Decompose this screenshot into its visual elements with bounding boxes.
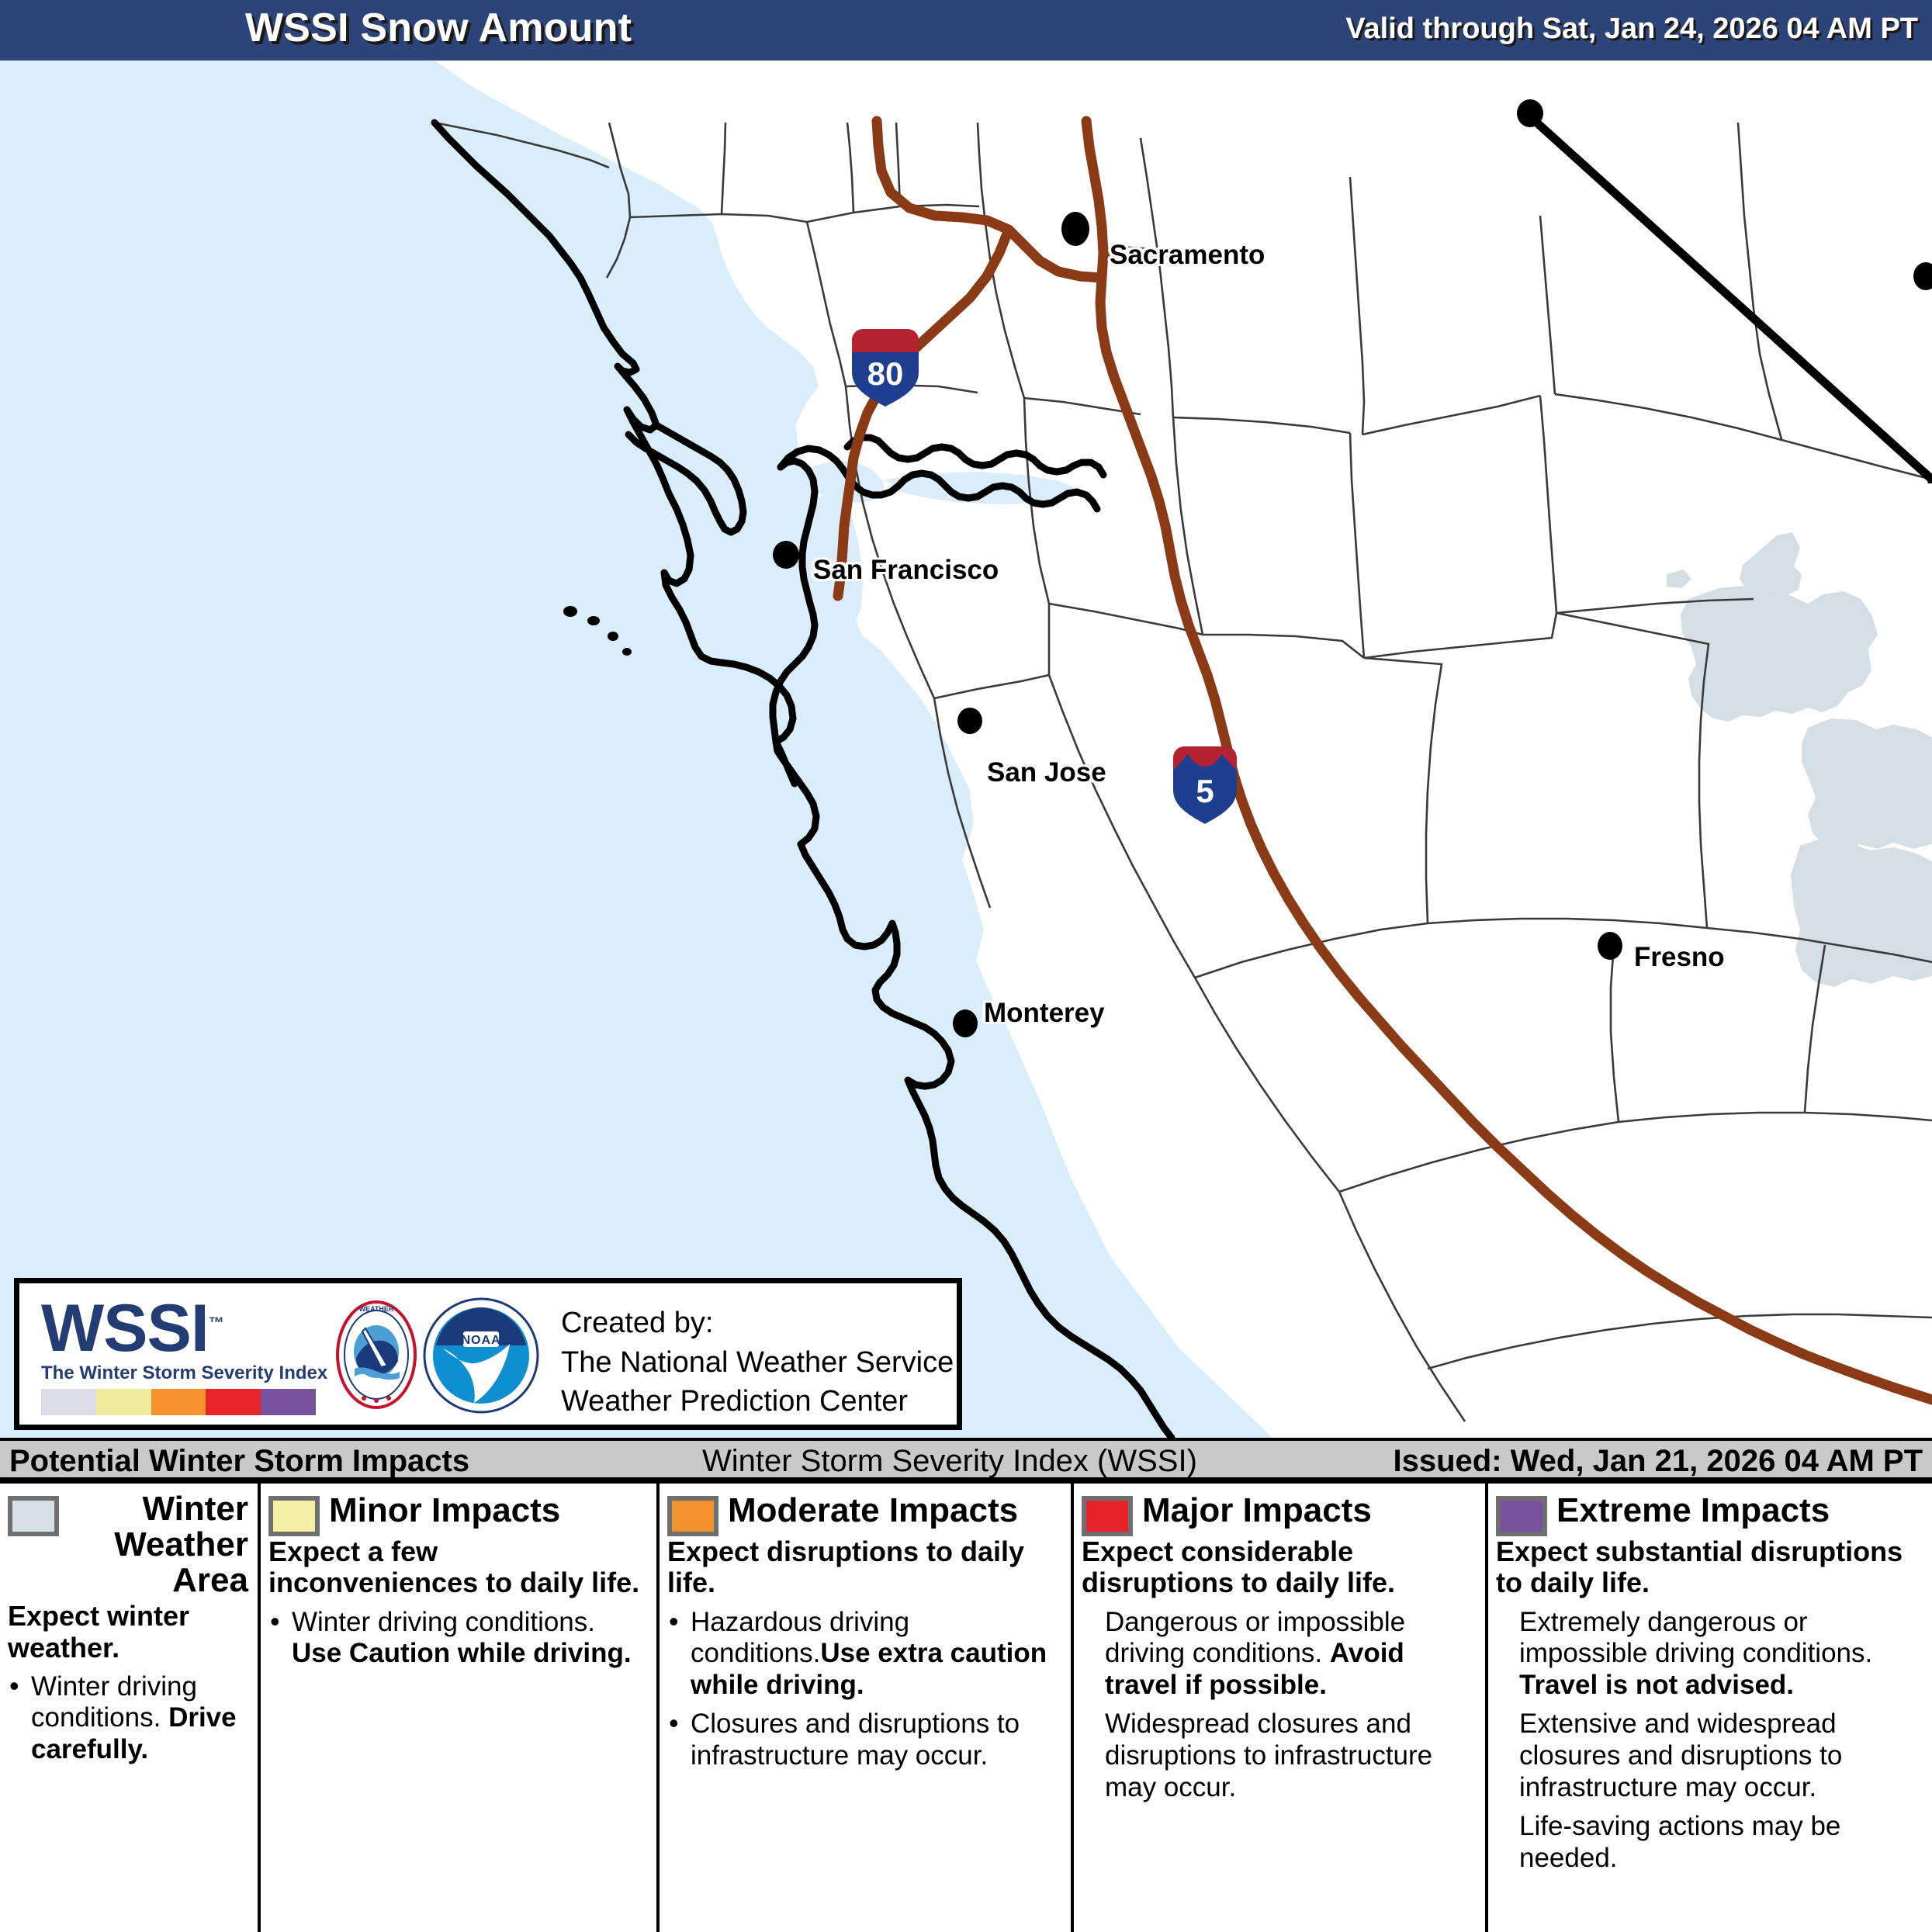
created-by-line-3: Weather Prediction Center <box>561 1382 954 1421</box>
city-dot-fresno <box>1598 932 1622 960</box>
legend-bullets-moderate-impacts: Hazardous driving conditions.Use extra c… <box>667 1607 1061 1772</box>
legend-bullets-minor-impacts: Winter driving conditions. Use Caution w… <box>268 1607 647 1670</box>
legend-header: Moderate Impacts <box>667 1491 1061 1529</box>
svg-text:NOAA: NOAA <box>461 1334 500 1347</box>
wssi-wordmark: WSSI™ <box>41 1296 328 1361</box>
legend-column-minor-impacts[interactable]: Minor Impacts Expect a few inconvenience… <box>261 1484 660 1932</box>
list-item: Hazardous driving conditions.Use extra c… <box>667 1607 1061 1702</box>
list-item: Dangerous or impossible driving conditio… <box>1082 1607 1476 1702</box>
city-label-monterey: Monterey <box>984 998 1105 1029</box>
strip-swatch-extreme <box>261 1389 316 1415</box>
legend-lead-winter-weather-area: Expect winter weather. <box>8 1601 248 1664</box>
swatch-minor-impacts <box>268 1496 320 1536</box>
list-item: Extensive and widespread closures and di… <box>1496 1709 1923 1803</box>
map-canvas[interactable]: 80 5 Sacramento San Francisco San Jose F… <box>0 61 1932 1438</box>
legend-title-extreme-impacts: Extreme Impacts <box>1496 1491 1923 1529</box>
legend-header: WinterWeatherArea <box>8 1491 248 1598</box>
wssi-snow-amount-map-page: WSSI Snow Amount Valid through Sat, Jan … <box>0 0 1932 1932</box>
swatch-moderate-impacts <box>667 1496 718 1536</box>
legend-lead-minor-impacts: Expect a few inconveniences to daily lif… <box>268 1536 647 1599</box>
strip-swatch-minor <box>96 1389 151 1415</box>
list-item: Life-saving actions may be needed. <box>1496 1811 1923 1874</box>
legend-title-major-impacts: Major Impacts <box>1082 1491 1476 1529</box>
impacts-header-bar: Potential Winter Storm Impacts Winter St… <box>0 1438 1932 1481</box>
legend-title-minor-impacts: Minor Impacts <box>268 1491 647 1529</box>
city-dot-san-jose <box>957 708 982 734</box>
wssi-color-strip <box>41 1389 316 1415</box>
page-title: WSSI Snow Amount <box>245 5 632 51</box>
legend-lead-moderate-impacts: Expect disruptions to daily life. <box>667 1536 1061 1599</box>
legend-column-major-impacts[interactable]: Major Impacts Expect considerable disrup… <box>1074 1484 1488 1932</box>
city-dot-san-francisco <box>773 541 799 569</box>
strip-swatch-moderate <box>151 1389 206 1415</box>
legend-bullets-extreme-impacts: Extremely dangerous or impossible drivin… <box>1496 1607 1923 1875</box>
city-label-san-jose: San Jose <box>987 757 1106 788</box>
potential-impacts-label: Potential Winter Storm Impacts <box>9 1444 469 1479</box>
city-label-sacramento: Sacramento <box>1110 240 1265 271</box>
list-item: Widespread closures and disruptions to i… <box>1082 1709 1476 1803</box>
impacts-legend: WinterWeatherArea Expect winter weather.… <box>0 1481 1932 1932</box>
legend-column-extreme-impacts[interactable]: Extreme Impacts Expect substantial disru… <box>1488 1484 1932 1932</box>
national-weather-service-seal: WEATHER <box>336 1300 417 1409</box>
legend-column-winter-weather-area[interactable]: WinterWeatherArea Expect winter weather.… <box>0 1484 261 1932</box>
wssi-subtitle: The Winter Storm Severity Index <box>41 1362 328 1384</box>
created-by-line-1: Created by: <box>561 1304 954 1343</box>
strip-swatch-winter <box>41 1389 96 1415</box>
valid-through-label: Valid through Sat, Jan 24, 2026 04 AM PT <box>1345 12 1918 46</box>
city-dot-sacramento <box>1061 212 1089 246</box>
swatch-winter-weather-area <box>8 1496 59 1536</box>
trademark-symbol: ™ <box>209 1314 223 1331</box>
wssi-index-label: Winter Storm Severity Index (WSSI) <box>702 1444 1197 1479</box>
created-by-block: Created by: The National Weather Service… <box>561 1304 954 1421</box>
svg-text:80: 80 <box>867 355 904 392</box>
swatch-extreme-impacts <box>1496 1496 1547 1536</box>
city-label-san-francisco: San Francisco <box>813 555 999 586</box>
legend-title-moderate-impacts: Moderate Impacts <box>667 1491 1061 1529</box>
list-item: Winter driving conditions. Drive careful… <box>8 1671 248 1766</box>
svg-text:5: 5 <box>1196 773 1214 809</box>
legend-bullets-major-impacts: Dangerous or impossible driving conditio… <box>1082 1607 1476 1804</box>
legend-bullets-winter-weather-area: Winter driving conditions. Drive careful… <box>8 1671 248 1766</box>
city-dot-north-edge <box>1517 99 1543 127</box>
list-item: Closures and disruptions to infrastructu… <box>667 1709 1061 1771</box>
wssi-logo: WSSI™ The Winter Storm Severity Index <box>41 1296 328 1415</box>
strip-swatch-major <box>206 1389 261 1415</box>
noaa-seal: NOAA <box>423 1297 539 1414</box>
legend-header: Extreme Impacts <box>1496 1491 1923 1529</box>
wssi-logo-box: WSSI™ The Winter Storm Severity Index WE… <box>14 1278 962 1430</box>
svg-text:WEATHER: WEATHER <box>359 1305 394 1313</box>
created-by-line-2: The National Weather Service <box>561 1343 954 1383</box>
legend-lead-major-impacts: Expect considerable disruptions to daily… <box>1082 1536 1476 1599</box>
legend-column-moderate-impacts[interactable]: Moderate Impacts Expect disruptions to d… <box>660 1484 1074 1932</box>
city-dot-monterey <box>953 1009 978 1037</box>
city-label-fresno: Fresno <box>1634 942 1725 973</box>
swatch-major-impacts <box>1082 1496 1133 1536</box>
legend-lead-extreme-impacts: Expect substantial disruptions to daily … <box>1496 1536 1923 1599</box>
title-bar: WSSI Snow Amount Valid through Sat, Jan … <box>0 0 1932 61</box>
legend-header: Major Impacts <box>1082 1491 1476 1529</box>
legend-header: Minor Impacts <box>268 1491 647 1529</box>
issued-label: Issued: Wed, Jan 21, 2026 04 AM PT <box>1394 1444 1923 1479</box>
list-item: Winter driving conditions. Use Caution w… <box>268 1607 647 1670</box>
list-item: Extremely dangerous or impossible drivin… <box>1496 1607 1923 1702</box>
